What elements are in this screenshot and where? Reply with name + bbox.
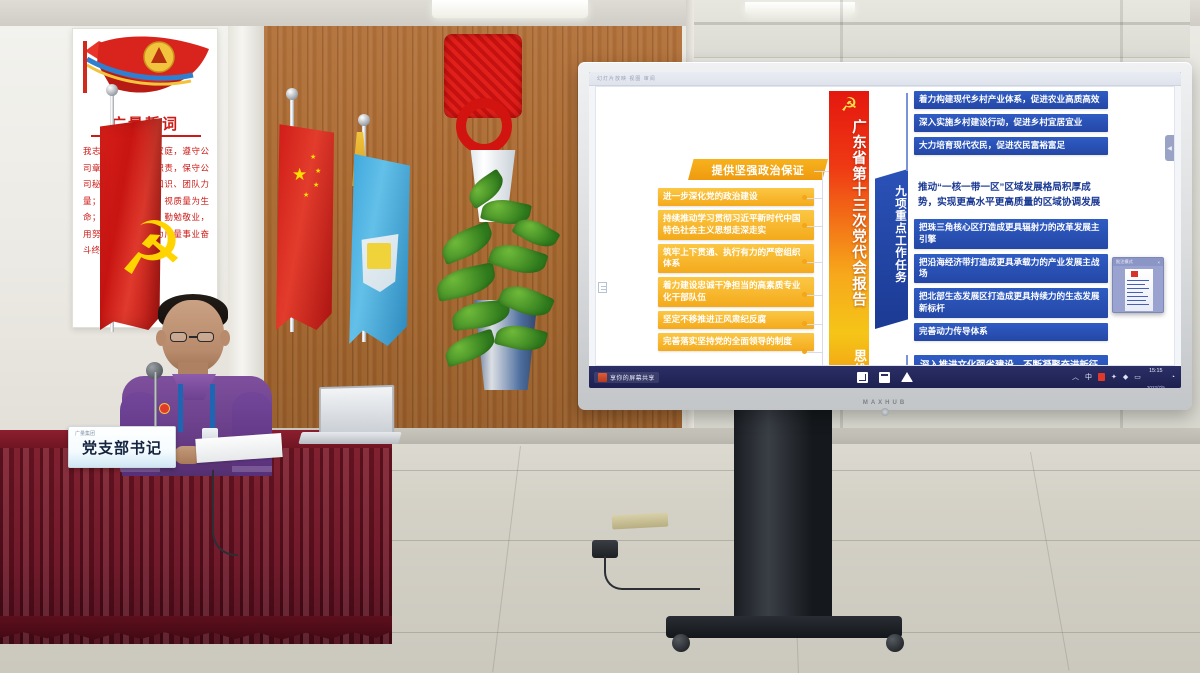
- taskbar-app-label: 享你的屏幕共享: [610, 373, 655, 382]
- list-item: 把沿海经济带打造成更具承载力的产业发展主战场: [914, 254, 1108, 284]
- nameplate-text: 党支部书记: [82, 437, 162, 458]
- power-cable: [604, 556, 700, 590]
- report-subtitle-text: 思维: [829, 349, 869, 366]
- report-title-text: 广东省第十三次党代会报告: [829, 119, 869, 351]
- system-tray[interactable]: ︿ 中 ✦ ◆ ▭ 15:15 2022/7/5 ◔: [1072, 360, 1175, 388]
- microphone-stand: [154, 372, 157, 434]
- network-icon[interactable]: ✦: [1111, 373, 1117, 381]
- display-panel: 幻灯片放映 视图 审阅 提供坚强政治保证 进一步深化党的政治建设 持续推动学习贯…: [589, 72, 1181, 388]
- clock-date: 2022/7/5: [1147, 385, 1165, 388]
- float-window-title: 批注模式: [1116, 259, 1133, 265]
- app-toolbar[interactable]: 幻灯片放映 视图 审阅: [589, 72, 1181, 86]
- app-icon: [598, 373, 607, 382]
- prc-national-flag: ★ ★ ★ ★ ★: [276, 120, 334, 330]
- presentation-app-window: 幻灯片放映 视图 审阅 提供坚强政治保证 进一步深化党的政治建设 持续推动学习贯…: [589, 72, 1181, 388]
- taskbar-running-app[interactable]: 享你的屏幕共享: [594, 372, 659, 383]
- list-item: 完善落实坚持党的全面领导的制度: [658, 333, 814, 351]
- conference-room-photo: 广量誓词 我志愿加入广量大家庭，遵守公司章程，履行岗位职责，保守公司秘密；崇尚专…: [0, 0, 1200, 673]
- company-logo-inner-icon: [367, 243, 391, 269]
- company-flag: [348, 150, 410, 346]
- volume-icon[interactable]: ◆: [1123, 373, 1128, 381]
- task-view-icon[interactable]: [857, 372, 868, 383]
- list-item: 筑牢上下贯通、执行有力的严密组织体系: [658, 244, 814, 274]
- slide-canvas[interactable]: 提供坚强政治保证 进一步深化党的政治建设 持续推动学习贯彻习近平新时代中国特色社…: [595, 86, 1175, 366]
- taskbar[interactable]: 享你的屏幕共享 ︿ 中 ✦ ◆ ▭: [589, 366, 1181, 388]
- left-branch-header: 提供坚强政治保证: [688, 159, 828, 180]
- list-item: 大力培育现代农民，促进农民富裕富足: [914, 137, 1108, 155]
- tasks-banner: 九项重点工作任务: [875, 169, 908, 329]
- close-icon[interactable]: ×: [1158, 260, 1160, 265]
- canvas-side-handle[interactable]: [598, 282, 607, 293]
- laptop-screen: [319, 385, 394, 437]
- flag-finial: [286, 88, 298, 100]
- share-icon[interactable]: [901, 372, 913, 382]
- caster-wheel: [886, 634, 904, 652]
- flag-finial: [106, 84, 118, 96]
- red-app-icon[interactable]: [1098, 373, 1105, 381]
- float-window-titlebar[interactable]: 批注模式 ×: [1113, 258, 1163, 266]
- hammer-sickle-icon: ☭: [118, 212, 186, 308]
- chinese-knot-decoration: [438, 34, 530, 166]
- taskbar-center-icons[interactable]: [857, 372, 913, 383]
- mic-cable: [212, 470, 238, 556]
- ime-icon[interactable]: 中: [1085, 372, 1092, 382]
- ceiling-duct-seam: [690, 22, 1190, 25]
- list-item: 深入实施乡村建设行动，促进乡村宜居宜业: [914, 114, 1108, 132]
- tasks-banner-text: 九项重点工作任务: [875, 185, 908, 283]
- toolbar-hint-text: 幻灯片放映 视图 审阅: [597, 75, 656, 82]
- annotation-thumbnail-window[interactable]: 批注模式 ×: [1112, 257, 1164, 313]
- float-window-preview: [1125, 269, 1153, 311]
- flag-finial: [358, 114, 370, 126]
- highlight-text: 推动“一核一带一区”区域发展格局积厚成势，实现更高水平更高质量的区域协调发展: [914, 179, 1108, 213]
- ceiling-light: [745, 2, 855, 14]
- display-power-led: [881, 408, 889, 416]
- list-item: 完善动力传导体系: [914, 323, 1108, 341]
- report-title-banner: ☭ 广东省第十三次党代会报告 思维: [829, 91, 869, 366]
- display-stand-column: [734, 406, 832, 624]
- poster-flag-graphic: [81, 35, 217, 121]
- display-stand-base: [666, 616, 902, 638]
- cable-cover: [612, 513, 669, 530]
- list-item: 把珠三角核心区打造成更具辐射力的改革发展主引擎: [914, 219, 1108, 249]
- ceiling-light: [432, 0, 588, 18]
- clock-time: 15:15: [1149, 368, 1163, 374]
- chevron-up-icon[interactable]: ︿: [1072, 372, 1079, 382]
- hammer-sickle-icon: ☭: [836, 94, 862, 118]
- left-branch-spine: [822, 171, 823, 366]
- nameplate-logo: 广量集团: [75, 430, 95, 437]
- list-item: 持续推动学习贯彻习近平新时代中国特色社会主义思想走深走实: [658, 210, 814, 240]
- lapel-pin: [160, 404, 169, 413]
- potted-plant: [430, 176, 580, 412]
- laptop-keyboard: [298, 432, 401, 444]
- maxhub-display: MAXHUB 幻灯片放映 视图 审阅 提供坚强政治保证 进一步深化党的政治: [578, 62, 1192, 410]
- list-item: 着力建设忠诚干净担当的高素质专业化干部队伍: [658, 277, 814, 307]
- baseboard: [262, 428, 1200, 444]
- right-branch-group-top: 着力构建现代乡村产业体系，促进农业高质高效 深入实施乡村建设行动，促进乡村宜居宜…: [914, 91, 1108, 160]
- nameplate: 广量集团 党支部书记: [68, 426, 176, 468]
- clock[interactable]: 15:15 2022/7/5: [1147, 360, 1165, 388]
- list-item: 着力构建现代乡村产业体系，促进农业高质高效: [914, 91, 1108, 109]
- left-branch-header-text: 提供坚强政治保证: [712, 162, 805, 178]
- right-branch-group-mid: 推动“一核一带一区”区域发展格局积厚成势，实现更高水平更高质量的区域协调发展 把…: [914, 179, 1108, 346]
- battery-icon[interactable]: ▭: [1134, 373, 1141, 381]
- panel-collapse-icon[interactable]: ◀: [1165, 135, 1174, 161]
- table-skirt: [0, 448, 392, 644]
- list-item: 坚定不移推进正风肃纪反腐: [658, 311, 814, 329]
- maxhub-brand-label: MAXHUB: [578, 400, 1192, 406]
- window-icon[interactable]: [879, 372, 890, 383]
- floor-seam: [260, 470, 1200, 471]
- notification-icon[interactable]: ◔: [1171, 374, 1175, 381]
- left-branch-list: 进一步深化党的政治建设 持续推动学习贯彻习近平新时代中国特色社会主义思想走深走实…: [658, 188, 814, 355]
- caster-wheel: [672, 634, 690, 652]
- list-item: 把北部生态发展区打造成更具持续力的生态发展新标杆: [914, 288, 1108, 318]
- list-item: 进一步深化党的政治建设: [658, 188, 814, 206]
